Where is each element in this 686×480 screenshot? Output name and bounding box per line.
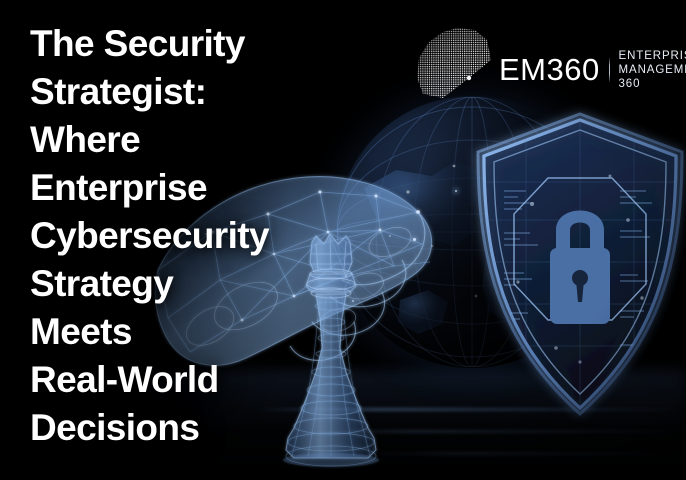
globe-graticule-icon [336,96,608,368]
banner-root: The Security Strategist: Where Enterpris… [0,0,686,480]
globe-shadow [336,96,608,368]
security-shield [470,112,686,422]
floor-streak [360,452,686,455]
page-title: The Security Strategist: Where Enterpris… [30,20,360,452]
logo-typography: EM360 ENTERPRISE MANAGEMENT 360 [499,35,686,91]
globe-sphere [336,96,608,368]
spark-node [455,190,457,192]
em360-logo[interactable]: EM360 ENTERPRISE MANAGEMENT 360 [413,26,686,100]
spark-node [413,238,416,241]
logo-wordmark: EM360 [499,54,600,85]
logo-divider [609,57,610,83]
fan-mark-svg [413,26,491,100]
shield-padlock-icon [470,112,686,422]
em360-fan-mark-icon [413,26,491,100]
padlock-glyph [550,211,610,325]
digital-globe [336,96,608,368]
logo-tagline: ENTERPRISE MANAGEMENT 360 [619,49,686,91]
